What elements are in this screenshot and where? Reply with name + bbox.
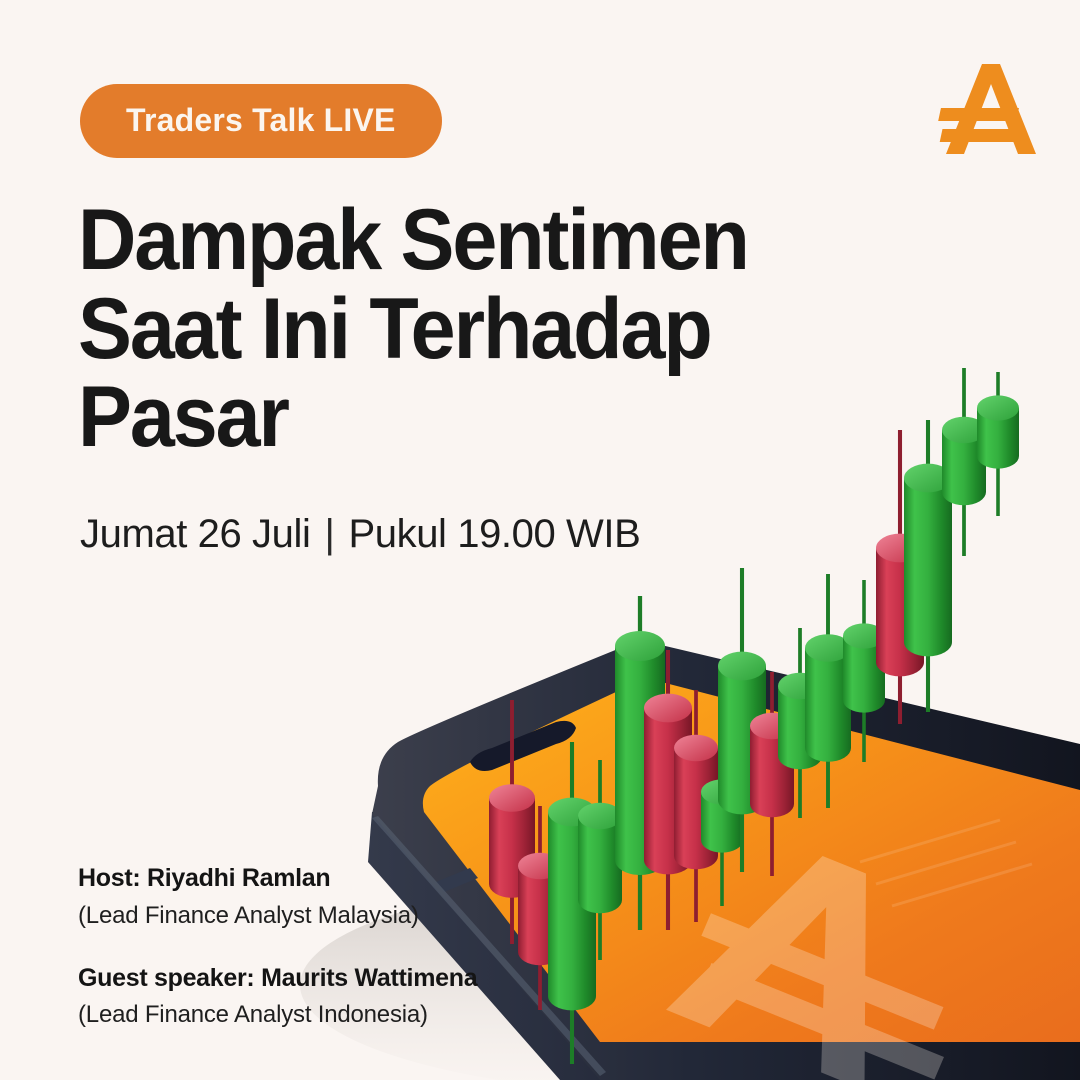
host-role: (Lead Finance Analyst Malaysia) [78,900,477,932]
schedule-separator: | [324,512,334,557]
credit-host: Host: Riyadhi Ramlan (Lead Finance Analy… [78,862,477,932]
event-schedule: Jumat 26 Juli | Pukul 19.00 WIB [80,512,640,557]
credit-guest: Guest speaker: Maurits Wattimena (Lead F… [78,962,477,1032]
guest-name: Guest speaker: Maurits Wattimena [78,962,477,995]
event-time: Pukul 19.00 WIB [348,512,640,557]
speaker-credits: Host: Riyadhi Ramlan (Lead Finance Analy… [78,862,477,1032]
headline-line-2: Saat Ini Terhadap [78,285,774,374]
page-title: Dampak Sentimen Saat Ini Terhadap Pasar [78,196,774,462]
host-name: Host: Riyadhi Ramlan [78,862,477,895]
headline-line-3: Pasar [78,373,774,462]
brand-a-logo [938,56,1048,160]
headline-line-1: Dampak Sentimen [78,196,774,285]
promo-poster: Traders Talk LIVE Dampak Sentimen Saat I… [0,0,1080,1080]
live-badge-label: Traders Talk LIVE [126,102,396,138]
event-date: Jumat 26 Juli [80,512,310,557]
live-badge[interactable]: Traders Talk LIVE [80,84,442,158]
guest-role: (Lead Finance Analyst Indonesia) [78,999,477,1031]
